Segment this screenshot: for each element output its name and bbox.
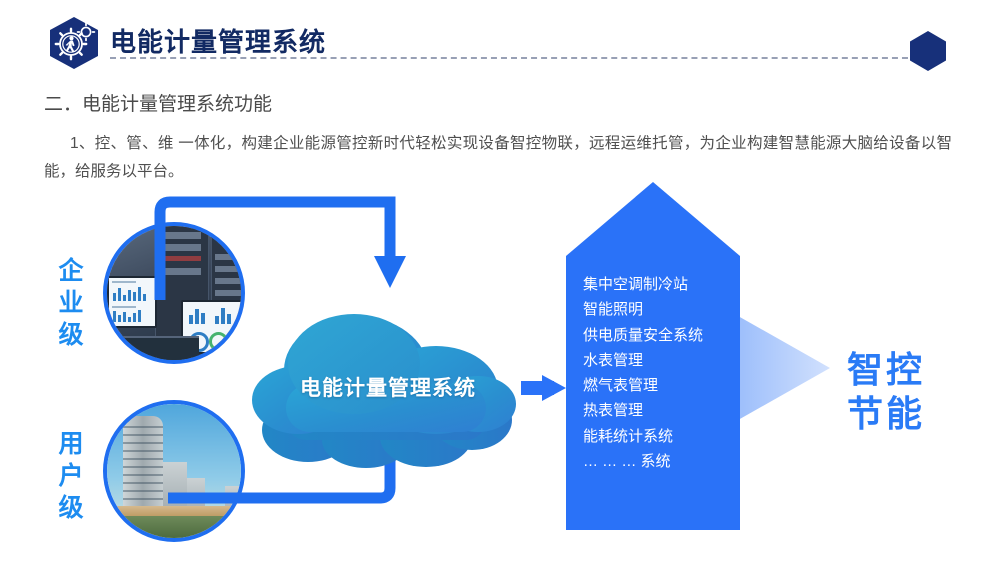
cloud-label: 电能计量管理系统 [268, 372, 508, 402]
rack-slot [215, 266, 245, 272]
label-user-level: 用 户 级 [54, 428, 88, 524]
photo-high-rise-building [103, 400, 245, 542]
list-item: 热表管理 [583, 398, 763, 423]
rack-slot [161, 244, 201, 251]
list-item: 水表管理 [583, 348, 763, 373]
page-title: 电能计量管理系统 [110, 22, 326, 59]
slogan-line: 节能 [840, 392, 932, 436]
label-char: 户 [54, 460, 88, 492]
slogan-line: 智控 [840, 348, 932, 392]
rack-slot [215, 290, 245, 296]
photo-server-monitoring-room [103, 222, 245, 364]
list-item: 智能照明 [583, 297, 763, 322]
rack-slot [161, 232, 201, 239]
list-item: 能耗统计系统 [583, 424, 763, 449]
label-char: 业 [54, 287, 88, 319]
gear-person-hexagon-icon [46, 16, 102, 70]
list-item: 燃气表管理 [583, 373, 763, 398]
label-char: 企 [54, 255, 88, 287]
label-char: 用 [54, 428, 88, 460]
slogan-smart-control-energy-saving: 智控 节能 [840, 348, 932, 436]
slide-header: 电能计量管理系统 [0, 0, 1000, 84]
monitor-screen-left [107, 276, 157, 328]
label-char: 级 [54, 492, 88, 524]
label-char: 级 [54, 319, 88, 351]
slide-root: 电能计量管理系统 二．电能计量管理系统功能 1、控、管、维 一体化，构建企业能源… [0, 0, 1000, 563]
section-heading: 二．电能计量管理系统功能 [44, 89, 272, 116]
header-divider [110, 57, 918, 59]
systems-list: 集中空调制冷站 智能照明 供电质量安全系统 水表管理 燃气表管理 热表管理 能耗… [583, 272, 763, 474]
hexagon-icon [908, 30, 948, 72]
ground [107, 516, 241, 538]
rack-slot [215, 254, 245, 260]
list-item: … … … 系统 [583, 449, 763, 474]
label-enterprise-level: 企 业 级 [54, 255, 88, 351]
rack-slot [161, 268, 201, 275]
rack-slot [161, 256, 201, 261]
photo-inner [107, 404, 241, 538]
paragraph-text: 1、控、管、维 一体化，构建企业能源管控新时代轻松实现设备智控物联，远程运维托管… [44, 135, 952, 180]
list-item: 集中空调制冷站 [583, 272, 763, 297]
photo-inner [107, 226, 241, 360]
list-item: 供电质量安全系统 [583, 323, 763, 348]
rack-slot [215, 278, 245, 284]
